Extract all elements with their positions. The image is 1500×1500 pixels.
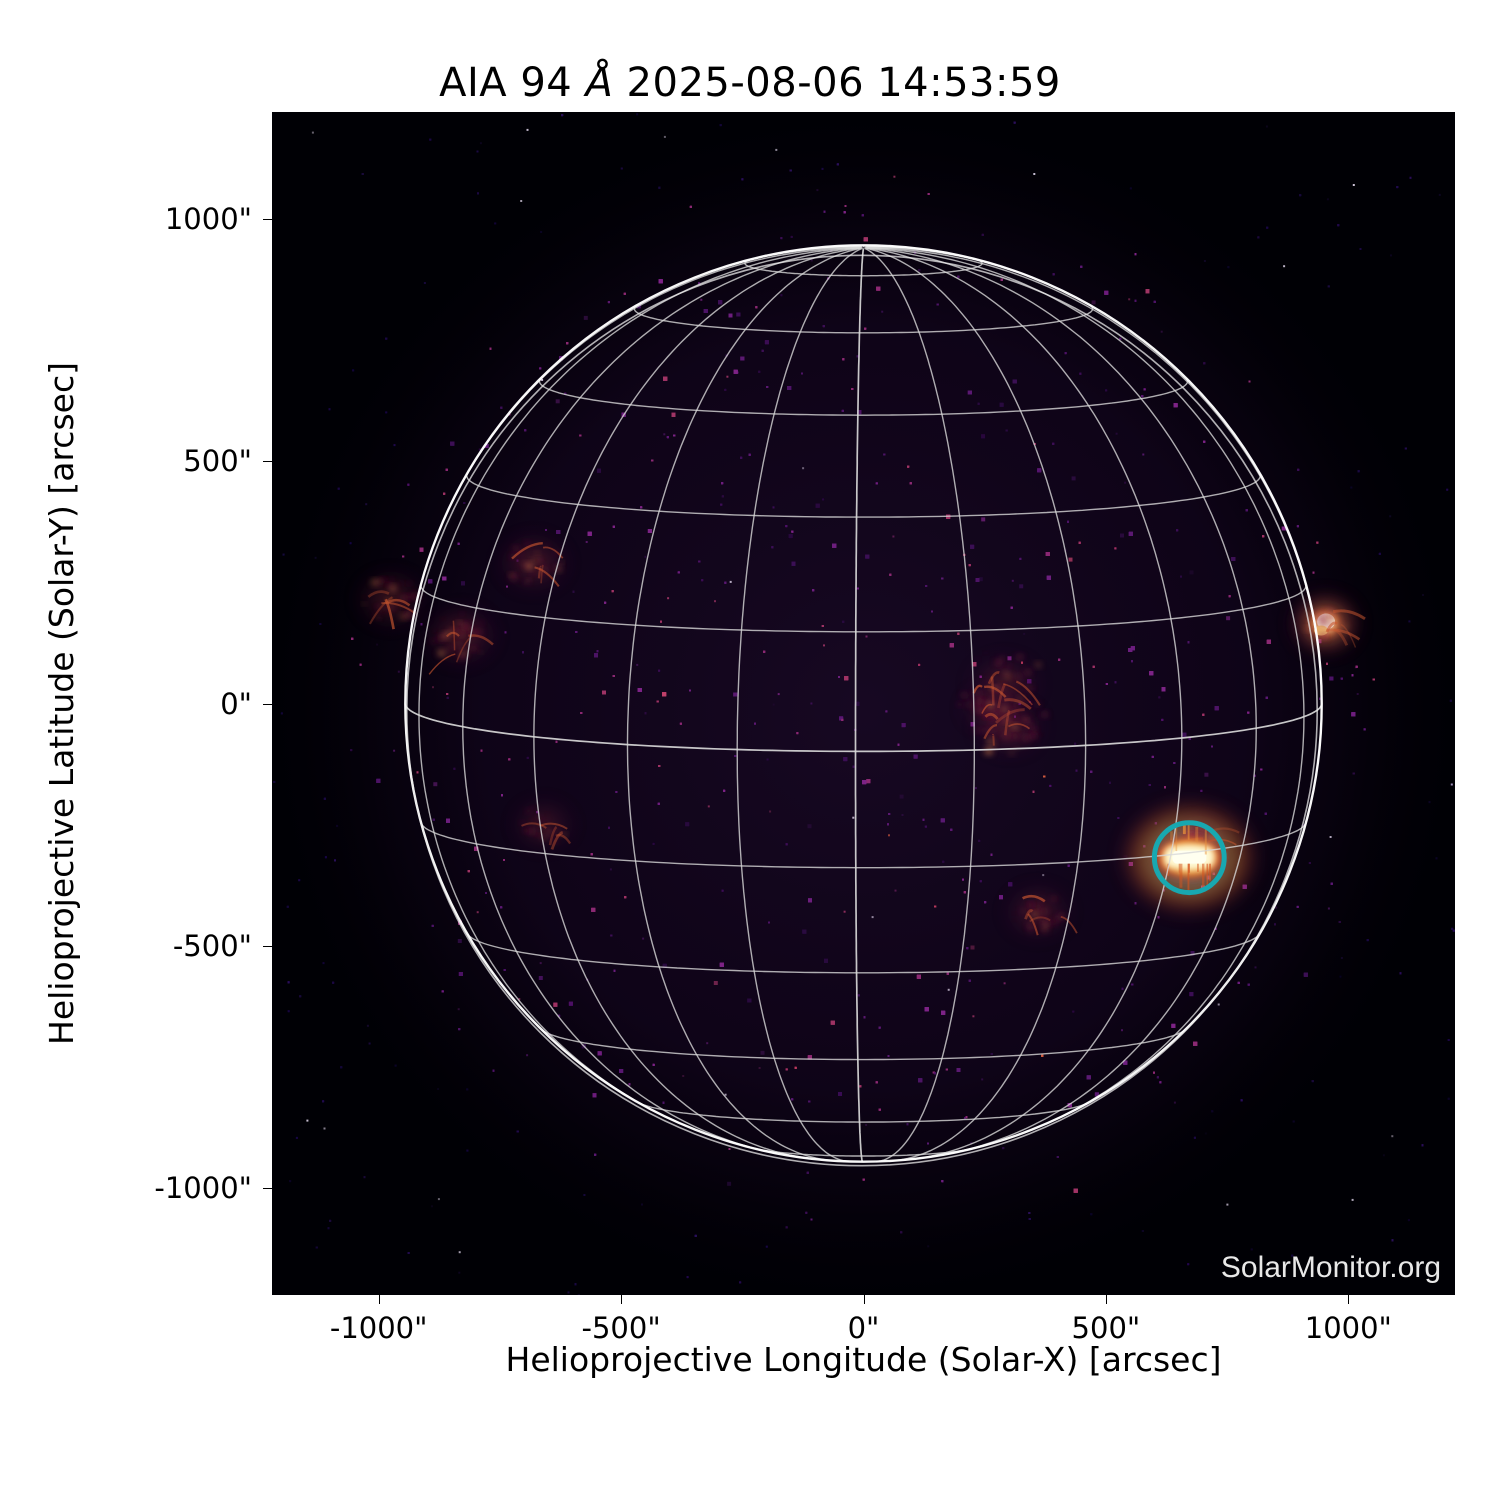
x-axis-label: Helioprojective Longitude (Solar-X) [arc… [272,1340,1455,1379]
y-tick-label: -500" [0,929,252,963]
x-tick [1348,1295,1349,1304]
x-tick [379,1295,380,1304]
y-tick-label: 0" [0,687,252,721]
title-instrument-wavelength: AIA 94 [439,60,585,106]
x-tick [621,1295,622,1304]
y-tick [263,461,272,462]
image-plot-area[interactable]: SolarMonitor.org [272,112,1455,1295]
solar-image-figure: AIA 94 Å 2025-08-06 14:53:59 [0,0,1500,1500]
y-tick-label: 500" [0,444,252,478]
solar-disk-image [272,112,1455,1295]
y-tick [263,1188,272,1189]
y-axis-label: Helioprojective Latitude (Solar-Y) [arcs… [42,362,81,1045]
y-tick-label: -1000" [0,1171,252,1205]
y-tick [263,219,272,220]
y-tick-label: 1000" [0,202,252,236]
angstrom-symbol: Å [585,60,613,106]
y-tick [263,704,272,705]
page-title: AIA 94 Å 2025-08-06 14:53:59 [0,60,1500,106]
title-datetime: 2025-08-06 14:53:59 [613,60,1061,106]
x-tick [1106,1295,1107,1304]
y-tick [263,946,272,947]
x-tick [864,1295,865,1304]
